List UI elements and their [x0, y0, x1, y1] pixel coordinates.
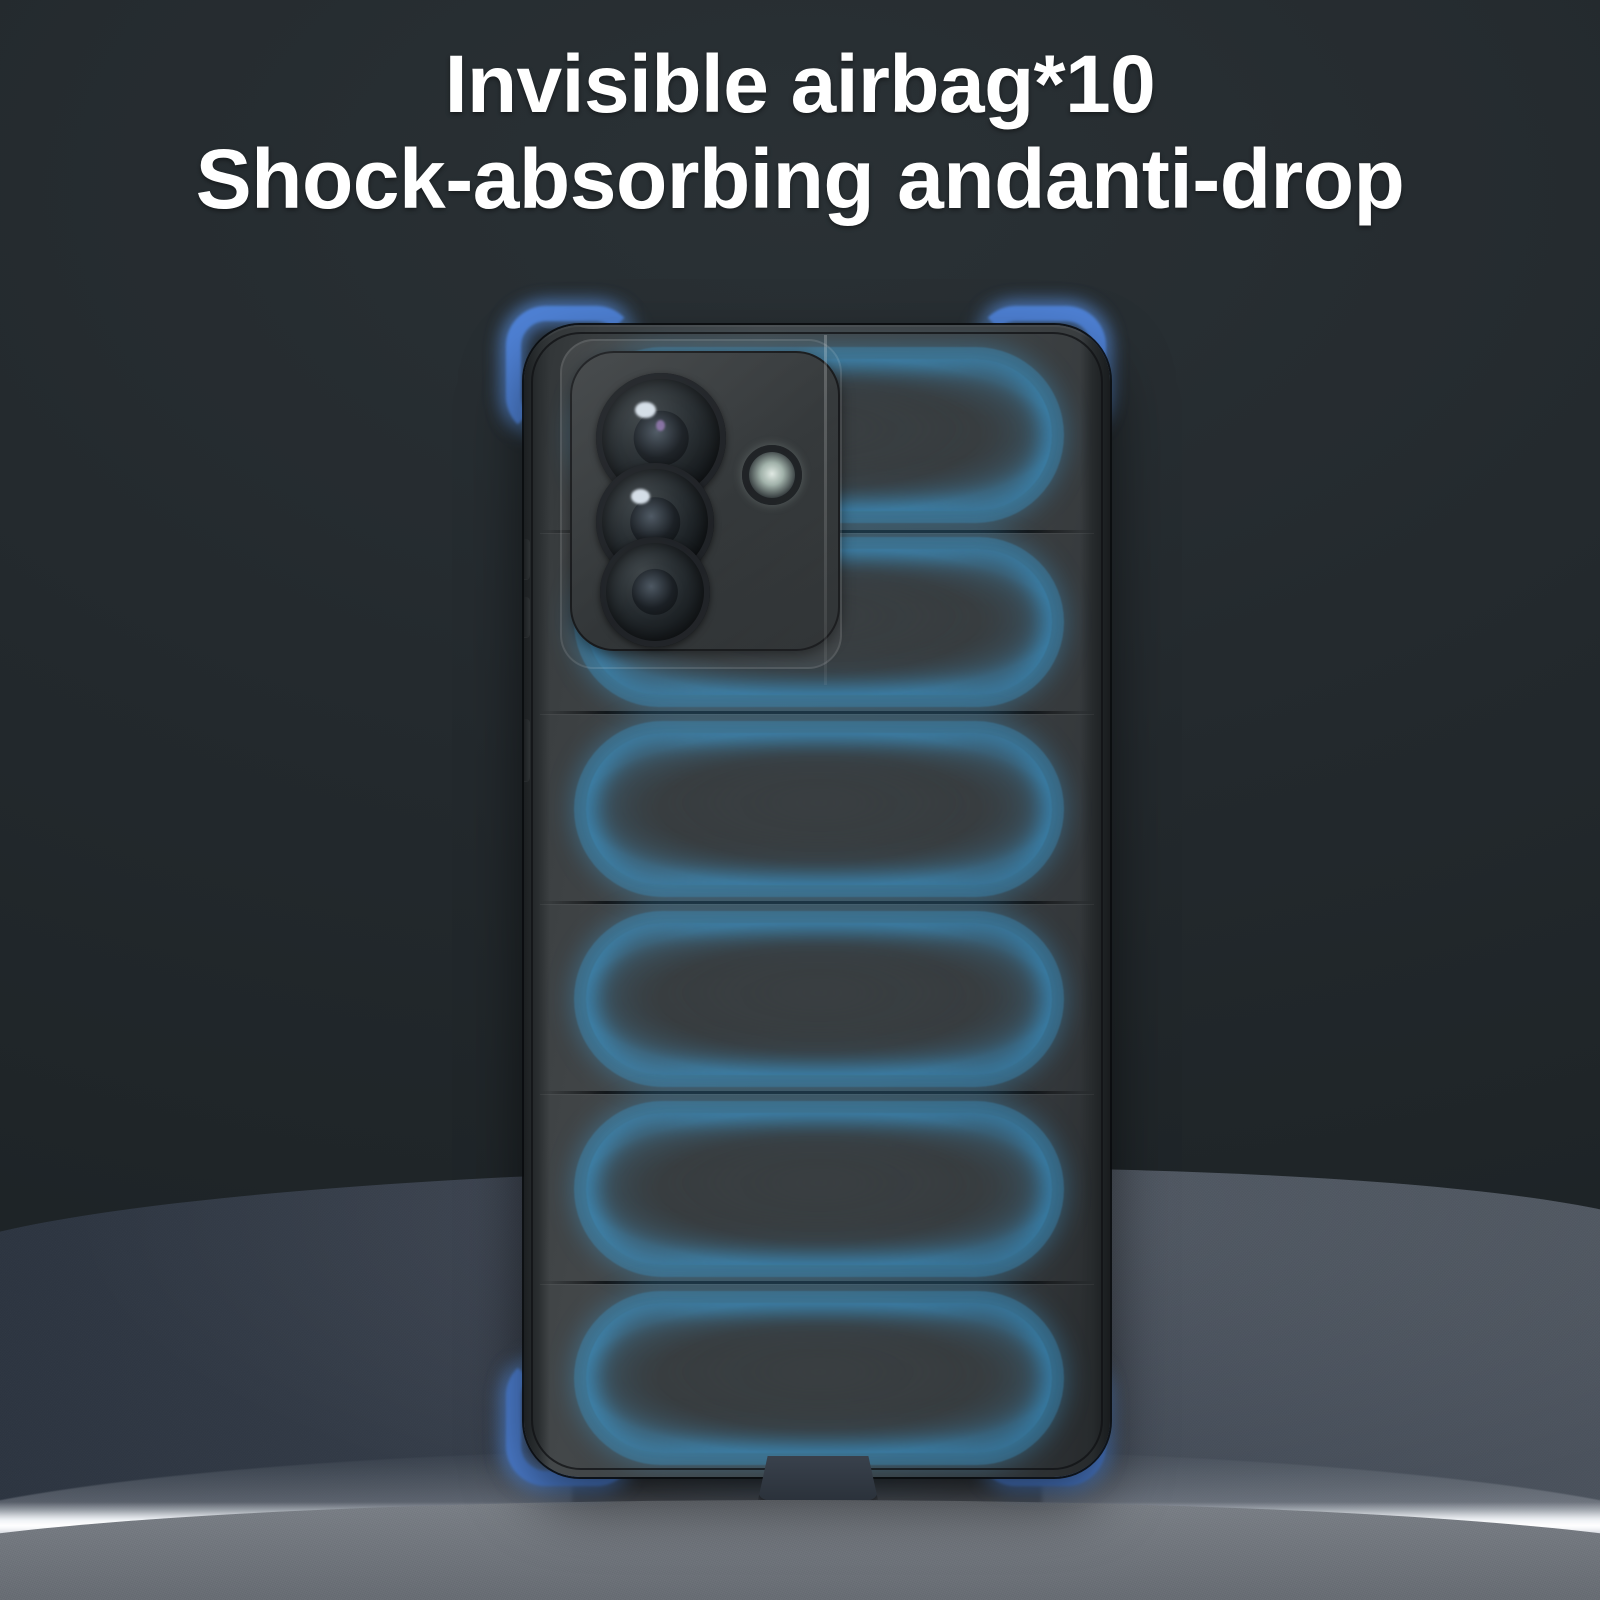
phone-with-case [506, 306, 1106, 1486]
table-front-texture [0, 1500, 1600, 1600]
side-button-volume-up [524, 539, 530, 579]
phone-case-body [524, 325, 1110, 1477]
product-marketing-image: Invisible airbag*10 Shock-absorbing anda… [0, 0, 1600, 1600]
side-button-power [524, 719, 530, 781]
case-bottom-stand [758, 1456, 878, 1500]
headline-line-1: Invisible airbag*10 [0, 42, 1600, 129]
headline: Invisible airbag*10 Shock-absorbing anda… [0, 42, 1600, 224]
side-button-volume-down [524, 597, 530, 637]
headline-line-2: Shock-absorbing andanti-drop [0, 135, 1600, 224]
case-inner-edge [531, 332, 1103, 1470]
